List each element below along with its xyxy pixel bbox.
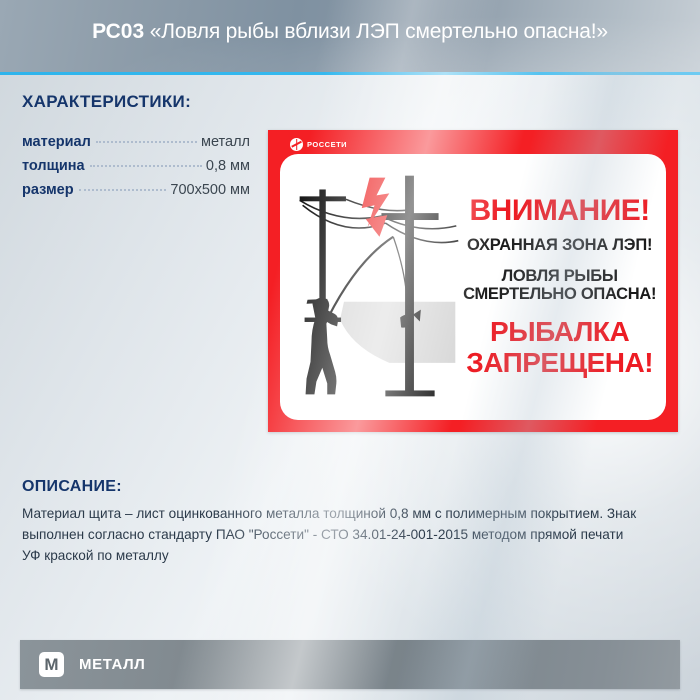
description-heading: ОПИСАНИЕ:: [22, 478, 122, 496]
spec-leader-dots: [79, 189, 167, 191]
characteristics-list: материал металл толщина 0,8 мм размер 70…: [22, 134, 250, 206]
rosseti-logo-icon: [290, 138, 303, 151]
rosseti-brand: РОССЕТИ: [290, 137, 347, 151]
sign-name: «Ловля рыбы вблизи ЛЭП смертельно опасна…: [150, 20, 608, 43]
spec-value-thickness: 0,8 мм: [206, 158, 250, 174]
metal-badge-icon: М: [39, 652, 64, 677]
fisherman-silhouette: [306, 298, 339, 395]
sign-line-zone: ОХРАННАЯ ЗОНА ЛЭП!: [467, 237, 652, 254]
sign-line-danger-2: СМЕРТЕЛЬНО ОПАСНА!: [463, 285, 656, 303]
illustration-svg: [280, 154, 473, 420]
spec-value-material: металл: [201, 134, 250, 150]
spec-row: материал металл: [22, 134, 250, 158]
sign-code: РС03: [92, 20, 144, 43]
sign-line-attention: ВНИМАНИЕ!: [470, 196, 650, 226]
sign-panel: ВНИМАНИЕ! ОХРАННАЯ ЗОНА ЛЭП! ЛОВЛЯ РЫБЫ …: [280, 154, 666, 420]
sign-line-forbid-1: РЫБАЛКА: [466, 317, 653, 347]
sign-illustration: [280, 154, 473, 420]
power-pole-right: [381, 176, 438, 397]
page-header: РС03 «Ловля рыбы вблизи ЛЭП смертельно о…: [0, 0, 700, 72]
footer-material-label: МЕТАЛЛ: [79, 656, 145, 673]
material-footer-bar: М МЕТАЛЛ: [20, 640, 680, 689]
sign-line-danger: ЛОВЛЯ РЫБЫ СМЕРТЕЛЬНО ОПАСНА!: [463, 267, 656, 304]
header-divider: [0, 72, 700, 75]
sign-line-danger-1: ЛОВЛЯ РЫБЫ: [463, 267, 656, 285]
spec-label-material: материал: [22, 134, 91, 150]
description-text: Материал щита – лист оцинкованного метал…: [22, 503, 642, 566]
sign-line-forbid-2: ЗАПРЕЩЕНА!: [466, 348, 653, 378]
sign-preview[interactable]: РОССЕТИ: [268, 130, 678, 432]
spec-row: толщина 0,8 мм: [22, 158, 250, 182]
characteristics-heading: ХАРАКТЕРИСТИКИ:: [22, 92, 191, 112]
product-card: РС03 «Ловля рыбы вблизи ЛЭП смертельно о…: [0, 0, 700, 700]
spec-label-thickness: толщина: [22, 158, 85, 174]
spec-row: размер 700x500 мм: [22, 182, 250, 206]
rosseti-brand-label: РОССЕТИ: [307, 140, 347, 149]
spec-label-size: размер: [22, 182, 74, 198]
spec-leader-dots: [96, 141, 197, 143]
spec-value-size: 700x500 мм: [170, 182, 250, 198]
water-area: [340, 302, 455, 363]
sign-text-block: ВНИМАНИЕ! ОХРАННАЯ ЗОНА ЛЭП! ЛОВЛЯ РЫБЫ …: [459, 154, 660, 420]
sign-line-forbid: РЫБАЛКА ЗАПРЕЩЕНА!: [466, 317, 653, 377]
spec-leader-dots: [90, 165, 202, 167]
page-title: РС03 «Ловля рыбы вблизи ЛЭП смертельно о…: [0, 20, 700, 44]
